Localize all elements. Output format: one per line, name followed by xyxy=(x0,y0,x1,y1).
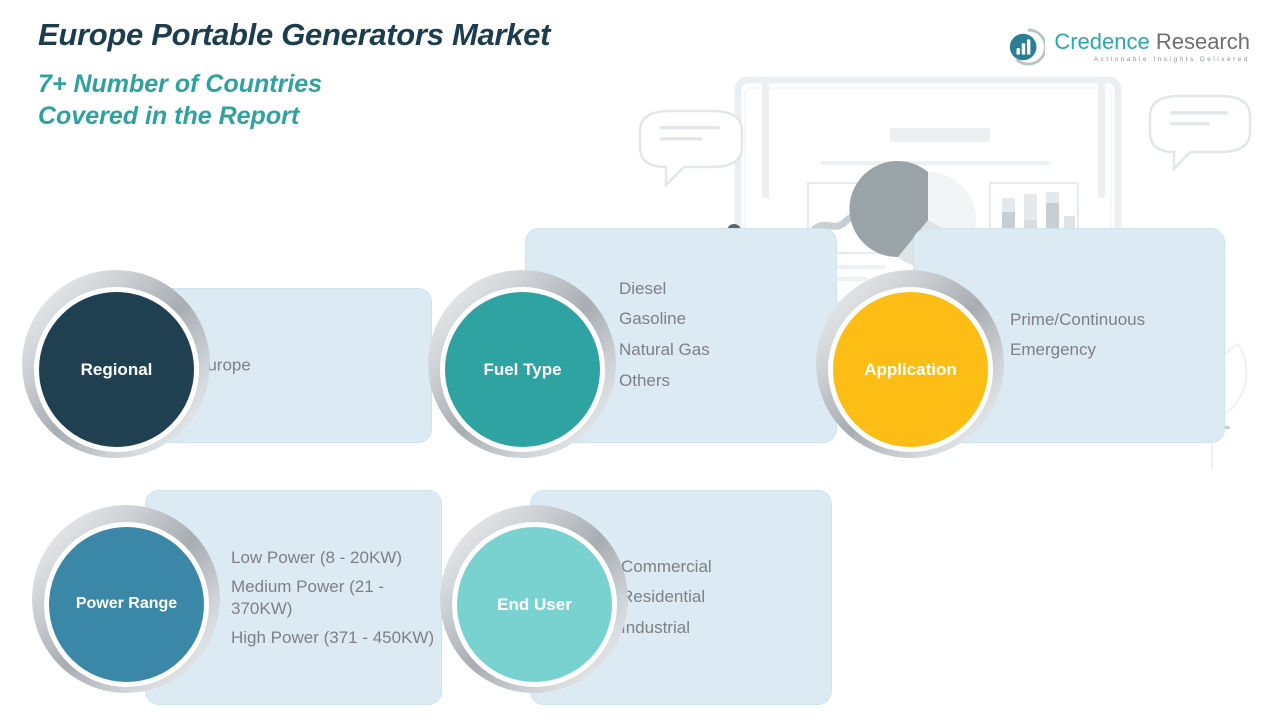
list-item: Industrial xyxy=(621,613,817,644)
list-item: Europe xyxy=(196,350,413,381)
logo-name-primary: Credence xyxy=(1054,29,1149,54)
subtitle-line-2: Covered in the Report xyxy=(38,100,550,132)
list-item: Others xyxy=(619,366,822,397)
subtitle-line-1: 7+ Number of Countries xyxy=(38,68,550,100)
segment-label-regional: Regional xyxy=(81,360,153,380)
segment-circle-end-user[interactable]: End User xyxy=(457,527,612,682)
logo-tagline: Actionable Insights Delivered xyxy=(1054,56,1250,63)
infographic-canvas: Europe Portable Generators Market 7+ Num… xyxy=(0,0,1280,720)
list-item: High Power (371 - 450KW) xyxy=(231,627,437,649)
segment-card-power-range[interactable]: Low Power (8 - 20KW) Medium Power (21 - … xyxy=(22,495,432,705)
speech-bubble-left xyxy=(640,111,742,185)
segment-circle-regional[interactable]: Regional xyxy=(39,292,194,447)
placeholder-line xyxy=(820,161,1050,165)
list-item: Natural Gas xyxy=(619,336,822,367)
list-item: Residential xyxy=(621,582,817,613)
segment-label-application: Application xyxy=(864,360,957,380)
segment-items-power-range: Low Power (8 - 20KW) Medium Power (21 - … xyxy=(231,546,437,648)
segment-items-application: Prime/Continuous Emergency xyxy=(1010,305,1210,367)
list-item: Commercial xyxy=(621,552,817,583)
segment-card-regional[interactable]: Europe Regional xyxy=(22,270,432,460)
credence-logo-icon xyxy=(1007,28,1045,66)
segment-label-fuel-type: Fuel Type xyxy=(483,360,561,380)
segment-items-end-user: Commercial Residential Industrial xyxy=(621,552,817,644)
list-item: Diesel xyxy=(619,274,822,305)
segment-label-power-range: Power Range xyxy=(76,595,177,613)
logo-name: Credence Research xyxy=(1054,31,1250,53)
segment-circle-power-range[interactable]: Power Range xyxy=(49,527,204,682)
brand-logo[interactable]: Credence Research Actionable Insights De… xyxy=(1007,28,1250,66)
segment-label-end-user: End User xyxy=(497,595,572,615)
segment-circle-fuel-type[interactable]: Fuel Type xyxy=(445,292,600,447)
page-title: Europe Portable Generators Market xyxy=(38,18,550,52)
logo-name-secondary: Research xyxy=(1150,29,1250,54)
segment-items-fuel-type: Diesel Gasoline Natural Gas Others xyxy=(619,274,822,398)
speech-bubble-right xyxy=(1150,96,1250,169)
list-item: Gasoline xyxy=(619,305,822,336)
segment-circle-application[interactable]: Application xyxy=(833,292,988,447)
page-subtitle: 7+ Number of Countries Covered in the Re… xyxy=(38,68,550,132)
list-item: Emergency xyxy=(1010,336,1210,367)
list-item: Prime/Continuous xyxy=(1010,305,1210,336)
list-item: Low Power (8 - 20KW) xyxy=(231,546,437,568)
header-block: Europe Portable Generators Market 7+ Num… xyxy=(38,18,550,132)
placeholder-title-bar xyxy=(890,128,990,142)
list-item: Medium Power (21 - 370KW) xyxy=(231,575,437,619)
segment-items-regional: Europe xyxy=(196,350,413,381)
segment-card-application[interactable]: Prime/Continuous Emergency Application xyxy=(800,270,1225,460)
segment-card-end-user[interactable]: Commercial Residential Industrial End Us… xyxy=(412,495,837,705)
segment-card-fuel-type[interactable]: Diesel Gasoline Natural Gas Others Fuel … xyxy=(412,270,837,460)
